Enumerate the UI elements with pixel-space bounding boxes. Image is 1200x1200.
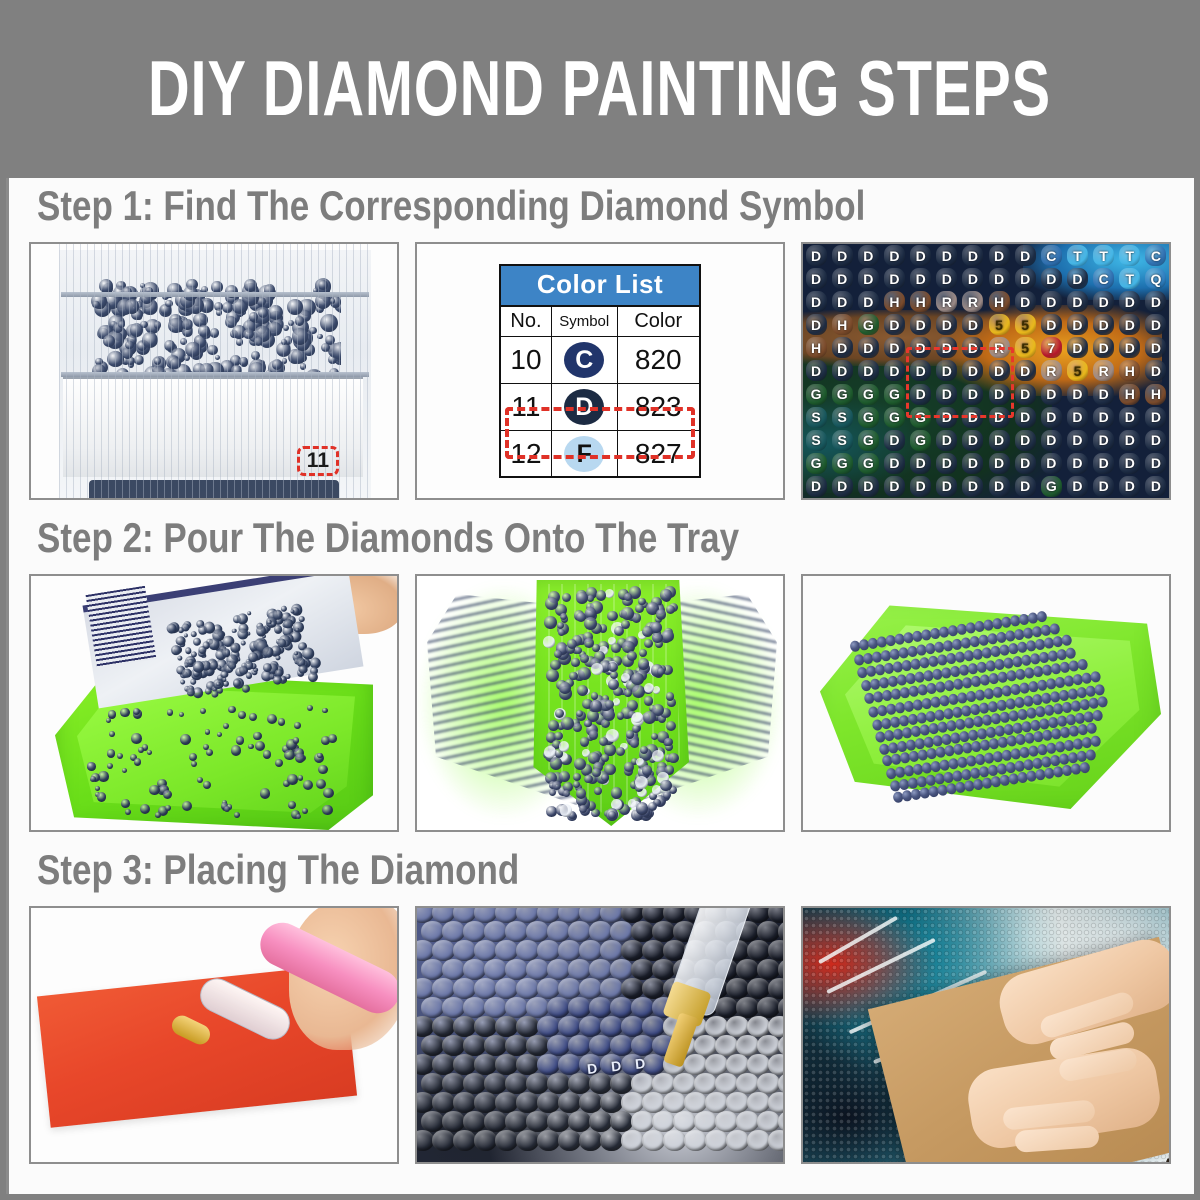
- grid-cell: S: [803, 429, 829, 452]
- grid-cell: D: [908, 267, 934, 290]
- diamond: [673, 1111, 696, 1132]
- grid-cell: D: [1091, 406, 1117, 429]
- diamond: [241, 640, 247, 646]
- diamond: [705, 1130, 728, 1151]
- grid-cell: 5: [986, 313, 1012, 336]
- diamond: [642, 765, 652, 775]
- diamond: [484, 997, 507, 1018]
- cell-color: 823: [617, 383, 700, 430]
- diamond: [668, 753, 678, 763]
- grid-cell: D: [1064, 452, 1090, 475]
- photo-canvas-grid: DDDDDDDDDCTTTCDDDDDDDDDDDCTQDDDHHRRHDDDD…: [801, 242, 1171, 500]
- grid-cell: D: [1091, 383, 1117, 406]
- diamond: [768, 940, 783, 961]
- diamond: [757, 1035, 780, 1056]
- grid-cell: D: [829, 336, 855, 359]
- diamond: [624, 762, 634, 772]
- grid-cell: S: [829, 429, 855, 452]
- diamond: [621, 978, 644, 999]
- diamond: [463, 959, 486, 980]
- step-1-photos: 11 Color List No. Symbol: [9, 236, 1194, 510]
- diamond: [543, 636, 555, 648]
- col-header-symbol: Symbol: [551, 306, 617, 337]
- diamond: [95, 786, 100, 791]
- grid-cell: D: [803, 359, 829, 382]
- grid-bead: T: [1067, 245, 1088, 266]
- diamond: [568, 997, 591, 1018]
- diamond: [757, 1073, 780, 1094]
- grid-cell: D: [960, 267, 986, 290]
- diamond: [592, 768, 601, 777]
- grid-bead: D: [1041, 268, 1062, 289]
- diamond: [205, 729, 210, 734]
- step-3-title: Step 3: Placing The Diamond: [9, 837, 1194, 905]
- diamond: [200, 708, 206, 714]
- diamond: [90, 776, 96, 782]
- diamond: [147, 750, 152, 755]
- bag-number-badge: 11: [297, 446, 339, 476]
- diamond: [505, 921, 528, 942]
- diamond: [140, 804, 150, 814]
- grid-cell: D: [803, 267, 829, 290]
- grid-bead: D: [806, 268, 827, 289]
- diamond: [323, 788, 334, 799]
- grid-bead: D: [1145, 407, 1166, 428]
- diamond: [495, 1016, 518, 1037]
- grid-cell: H: [986, 290, 1012, 313]
- diamond: [579, 1092, 602, 1113]
- grid-cell: G: [855, 452, 881, 475]
- grid-bead: D: [858, 291, 879, 312]
- diamond: [453, 1016, 476, 1037]
- grid-cell: D: [1117, 336, 1143, 359]
- diamond: [600, 940, 623, 961]
- diamond: [610, 921, 633, 942]
- grid-cell: D: [960, 429, 986, 452]
- diamond: [177, 655, 183, 661]
- grid-cell: D: [1143, 290, 1169, 313]
- diamond: [117, 753, 123, 759]
- grid-cell: D: [960, 244, 986, 267]
- page-title: DIY DIAMOND PAINTING STEPS: [148, 45, 1051, 134]
- diamond: [578, 667, 591, 680]
- diamond: [599, 737, 608, 746]
- diamond: [601, 754, 609, 762]
- grid-bead: D: [806, 476, 827, 497]
- grid-cell: D: [829, 475, 855, 498]
- diamond: [778, 959, 783, 980]
- diamond: [562, 593, 571, 602]
- grid-cell: D: [1038, 429, 1064, 452]
- grid-cell: G: [1038, 475, 1064, 498]
- diamond: [547, 1073, 570, 1094]
- grid-cell: S: [803, 406, 829, 429]
- bag-zip-strip: [86, 586, 157, 668]
- diamond: [571, 658, 580, 667]
- diamond: [442, 1035, 465, 1056]
- grid-bead: D: [806, 360, 827, 381]
- diamond: [432, 978, 455, 999]
- diamond: [1049, 622, 1061, 634]
- color-list-rows: 10C82011D82312F827: [500, 336, 700, 477]
- diamond: [442, 1073, 465, 1094]
- diamond: [558, 940, 581, 961]
- diamond: [559, 682, 571, 694]
- diamond: [684, 1130, 707, 1151]
- diamond: [236, 736, 244, 744]
- grid-cell: D: [881, 475, 907, 498]
- diamond: [421, 1073, 444, 1094]
- grid-cell: 7: [1038, 336, 1064, 359]
- col-header-no: No.: [500, 306, 551, 337]
- diamond: [537, 940, 560, 961]
- diamond: [505, 997, 528, 1018]
- grid-bead: D: [832, 360, 853, 381]
- grid-cell: D: [1012, 452, 1038, 475]
- diamond: [557, 622, 564, 629]
- grid-bead: 5: [1015, 314, 1036, 335]
- grid-cell: R: [934, 290, 960, 313]
- grid-bead: D: [1015, 430, 1036, 451]
- diamond: [579, 940, 602, 961]
- grid-cell: G: [855, 406, 881, 429]
- diamond: [298, 775, 303, 780]
- diamond: [295, 753, 305, 763]
- diamond: [639, 649, 647, 657]
- diamond: [138, 747, 144, 753]
- diamond: [726, 1016, 749, 1037]
- diamond: [516, 1016, 539, 1037]
- diamond: [662, 630, 674, 642]
- grid-cell: D: [986, 244, 1012, 267]
- diamond: [596, 590, 607, 601]
- diamond: [635, 604, 644, 613]
- diamond: [432, 1130, 455, 1151]
- grid-bead: T: [1119, 268, 1140, 289]
- diamond: [568, 1111, 591, 1132]
- grid-bead: C: [1145, 245, 1166, 266]
- grid-cell: D: [934, 452, 960, 475]
- diamond: [273, 624, 283, 634]
- grid-bead: D: [832, 337, 853, 358]
- diamond: [610, 1111, 633, 1132]
- grid-bead: D: [1067, 453, 1088, 474]
- diamond: [768, 1016, 783, 1037]
- diamond: [705, 1092, 728, 1113]
- grid-cell: D: [829, 359, 855, 382]
- diamond: [453, 1054, 476, 1075]
- diamond: [474, 1054, 497, 1075]
- grid-bead: G: [806, 384, 827, 405]
- diamond: [155, 812, 161, 818]
- grid-bead: D: [1067, 314, 1088, 335]
- diamond: [125, 809, 131, 815]
- diamond: [505, 1111, 528, 1132]
- grid-bead: D: [936, 453, 957, 474]
- diamond: [255, 741, 265, 751]
- diamond: [189, 753, 197, 761]
- diamond: [778, 1073, 783, 1094]
- diamond: [1036, 610, 1048, 622]
- diamond: [558, 629, 566, 637]
- diamond: [589, 1035, 612, 1056]
- aligned-diamond-rows: [843, 618, 1143, 798]
- diamond: [589, 921, 612, 942]
- grid-bead: G: [858, 314, 879, 335]
- diamond: [726, 978, 749, 999]
- grid-bead: D: [1067, 407, 1088, 428]
- grid-bead: D: [1093, 453, 1114, 474]
- diamond: [589, 730, 598, 739]
- grid-bead: D: [1145, 314, 1166, 335]
- color-list-title: Color List: [500, 265, 700, 306]
- grid-bead: R: [1093, 360, 1114, 381]
- diamond: [294, 722, 301, 729]
- grid-cell: D: [1038, 406, 1064, 429]
- diamond: [322, 708, 327, 713]
- grid-cell: D: [1143, 475, 1169, 498]
- grid-bead: D: [1041, 291, 1062, 312]
- grid-bead: D: [884, 453, 905, 474]
- diamond: [575, 647, 582, 654]
- diamond: [558, 1054, 581, 1075]
- diamond: [736, 1073, 759, 1094]
- grid-bead: D: [858, 245, 879, 266]
- grid-bead: 5: [989, 314, 1010, 335]
- grid-cell: D: [934, 313, 960, 336]
- diamond: [421, 1035, 444, 1056]
- grid-bead: D: [832, 245, 853, 266]
- diamond: [516, 978, 539, 999]
- diamond: [705, 1054, 728, 1075]
- diamond: [666, 721, 676, 731]
- diamond: [463, 1111, 486, 1132]
- grid-cell: D: [1038, 290, 1064, 313]
- diamond: [736, 1035, 759, 1056]
- diamond: [191, 761, 197, 767]
- grid-cell: D: [986, 429, 1012, 452]
- grid-cell: G: [829, 452, 855, 475]
- grid-bead: G: [806, 453, 827, 474]
- diamond: [684, 1054, 707, 1075]
- grid-bead: H: [884, 291, 905, 312]
- diamond: [648, 802, 657, 811]
- diamond: [624, 689, 632, 697]
- grid-bead: D: [1015, 245, 1036, 266]
- grid-bead: S: [832, 430, 853, 451]
- diamond: [630, 739, 639, 748]
- grid-cell: H: [1143, 383, 1169, 406]
- diamond: [558, 1016, 581, 1037]
- aligned-scene: [803, 576, 1169, 830]
- diamond: [617, 712, 624, 719]
- grid-bead: S: [832, 407, 853, 428]
- grid-bead: T: [1093, 245, 1114, 266]
- grid-bead: D: [989, 476, 1010, 497]
- grid-bead: D: [1067, 291, 1088, 312]
- diamond: [664, 738, 673, 747]
- diamond: [220, 670, 228, 678]
- diamond: [651, 622, 662, 633]
- grid-cell: D: [1143, 313, 1169, 336]
- diamond: [230, 642, 241, 653]
- diamond: [217, 732, 222, 737]
- diamond: [167, 709, 174, 716]
- grid-cell: D: [1117, 406, 1143, 429]
- grid-bead: D: [1093, 430, 1114, 451]
- diamond: [550, 757, 562, 769]
- grid-cell: D: [881, 452, 907, 475]
- grid-bead: D: [1067, 337, 1088, 358]
- step-1-title: Step 1: Find The Corresponding Diamond S…: [9, 173, 1194, 241]
- grid-cell: G: [881, 383, 907, 406]
- grid-cell: D: [1064, 383, 1090, 406]
- grid-cell: D: [1012, 267, 1038, 290]
- grid-cell: D: [934, 429, 960, 452]
- grid-cell: D: [881, 336, 907, 359]
- diamond: [1086, 722, 1098, 734]
- grid-cell: D: [986, 475, 1012, 498]
- grid-cell: D: [855, 475, 881, 498]
- grid-cell: D: [829, 267, 855, 290]
- diamond: [607, 611, 617, 621]
- diamond: [442, 959, 465, 980]
- diamond: [1093, 683, 1105, 695]
- diamond: [611, 643, 621, 653]
- diamond: [642, 1016, 665, 1037]
- diamond: [621, 1092, 644, 1113]
- diamond: [642, 1092, 665, 1113]
- grid-cell: D: [1064, 475, 1090, 498]
- cell-symbol: C: [551, 336, 617, 383]
- diamond: [547, 1035, 570, 1056]
- grid-cell: D: [1143, 406, 1169, 429]
- grid-bead: D: [806, 314, 827, 335]
- diamond: [238, 711, 246, 719]
- grid-cell: D: [1012, 244, 1038, 267]
- diamond: [736, 997, 759, 1018]
- diamond: [644, 696, 653, 705]
- diamond: [554, 650, 562, 658]
- grid-cell: D: [1064, 313, 1090, 336]
- grid-bead: G: [910, 430, 931, 451]
- photo-diamond-bag: 11: [29, 242, 399, 500]
- diamond: [610, 959, 633, 980]
- diamond: [621, 1130, 644, 1151]
- grid-cell: D: [1064, 429, 1090, 452]
- diamond: [231, 745, 242, 756]
- diamond: [726, 1092, 749, 1113]
- grid-cell: D: [908, 244, 934, 267]
- grid-bead: H: [832, 314, 853, 335]
- grid-cell: D: [1117, 429, 1143, 452]
- diamond: [526, 959, 549, 980]
- photo-color-list: Color List No. Symbol Color 10C82011D823…: [415, 242, 785, 500]
- grid-bead: S: [806, 407, 827, 428]
- grid-cell: D: [855, 359, 881, 382]
- diamond: [288, 801, 296, 809]
- grid-cell: D: [829, 290, 855, 313]
- color-list-row: 10C820: [500, 336, 700, 383]
- diamond: [636, 802, 648, 814]
- grid-bead: D: [884, 245, 905, 266]
- grid-bead: D: [884, 476, 905, 497]
- grid-bead: 5: [1015, 337, 1036, 358]
- diamond: [778, 1035, 783, 1056]
- diamond: [559, 771, 570, 782]
- grid-cell: 5: [1012, 313, 1038, 336]
- diamond: [631, 1073, 654, 1094]
- diamond: [322, 805, 333, 816]
- diamond: [107, 763, 113, 769]
- photo-placing-closeup: DDD: [415, 906, 785, 1164]
- grid-cell: D: [881, 313, 907, 336]
- grid-cell: D: [1091, 313, 1117, 336]
- diamond: [1090, 735, 1102, 747]
- diamond: [484, 1035, 507, 1056]
- grid-cell: D: [881, 429, 907, 452]
- grid-cell: D: [881, 267, 907, 290]
- diamond: [631, 673, 643, 685]
- grid-cell: D: [1064, 406, 1090, 429]
- grid-cell: G: [908, 429, 934, 452]
- diamond: [295, 627, 300, 632]
- diamond: [621, 940, 644, 961]
- diamond: [463, 997, 486, 1018]
- grid-bead: D: [962, 314, 983, 335]
- bag-scene: 11: [31, 244, 397, 498]
- grid-cell: G: [803, 383, 829, 406]
- diamond: [180, 679, 186, 685]
- diamond: [134, 758, 142, 766]
- grid-bead: D: [832, 268, 853, 289]
- grid-bead: D: [1067, 430, 1088, 451]
- diamond: [98, 771, 108, 781]
- diamond: [636, 758, 644, 766]
- diamond: [768, 1130, 783, 1151]
- diamond: [185, 647, 192, 654]
- diamond: [614, 626, 624, 636]
- grid-bead: D: [1067, 476, 1088, 497]
- grid-cell: H: [803, 336, 829, 359]
- diamond: [516, 1092, 539, 1113]
- grid-bead: D: [962, 268, 983, 289]
- diamond: [526, 1111, 549, 1132]
- step-2-title: Step 2: Pour The Diamonds Onto The Tray: [9, 505, 1194, 573]
- grid-bead: D: [1015, 407, 1036, 428]
- diamond: [605, 589, 614, 598]
- diamond: [190, 630, 197, 637]
- grid-bead: G: [1041, 476, 1062, 497]
- grid-bead: Q: [1145, 268, 1166, 289]
- diamond: [652, 1111, 675, 1132]
- diamond: [293, 737, 299, 743]
- grid-cell: D: [803, 475, 829, 498]
- grid-bead: S: [806, 430, 827, 451]
- diamond: [621, 607, 634, 620]
- grid-bead: G: [884, 407, 905, 428]
- diamond: [106, 718, 111, 723]
- diamond: [644, 639, 653, 648]
- diamond: [1092, 709, 1104, 721]
- grid-cell: G: [881, 406, 907, 429]
- diamond: [663, 1130, 686, 1151]
- diamond: [248, 744, 253, 749]
- diamond: [544, 616, 557, 629]
- grid-cell: D: [1038, 383, 1064, 406]
- grid-cell: D: [1064, 336, 1090, 359]
- notebook-scene: Note Book: [803, 908, 1169, 1162]
